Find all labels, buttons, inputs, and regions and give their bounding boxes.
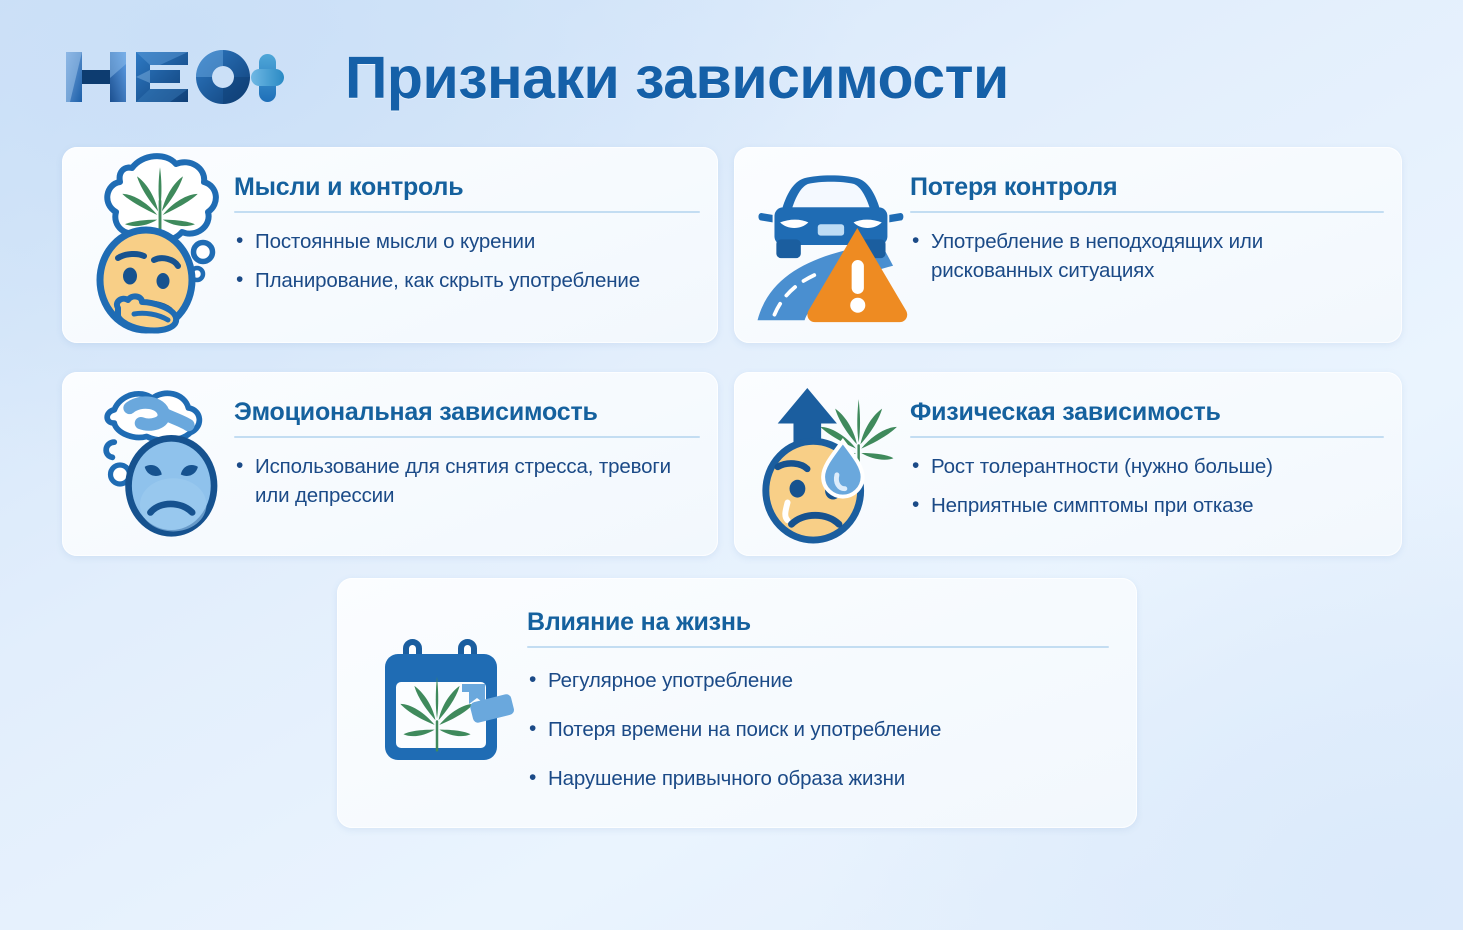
card-heading: Физическая зависимость [910,398,1384,427]
list-item: Нарушение привычного образа жизни [527,764,1109,793]
heading-divider [234,211,700,213]
heading-divider [910,436,1384,438]
card-points-list: Регулярное употребление Потеря времени н… [527,666,1109,793]
list-item: Неприятные симптомы при отказе [910,491,1384,520]
page-header: Признаки зависимости [0,0,1463,140]
card-impact-on-life: Влияние на жизнь Регулярное употребление… [337,578,1137,828]
card-heading: Эмоциональная зависимость [234,398,700,427]
card-heading: Влияние на жизнь [527,608,1109,637]
page-title: Признаки зависимости [345,44,1009,112]
list-item: Рост толерантности (нужно больше) [910,452,1384,481]
list-item: Планирование, как скрыть употребление [234,266,700,295]
card-thoughts-and-control: Мысли и контроль Постоянные мысли о куре… [62,147,718,343]
card-heading: Мысли и контроль [234,173,700,202]
sad-face-with-thought-cloud-icon [82,372,234,556]
thinking-face-with-cannabis-thought-bubble-icon [84,147,234,343]
heading-divider [527,646,1109,648]
card-body: Влияние на жизнь Регулярное употребление… [527,578,1137,813]
card-emotional-dependence: Эмоциональная зависимость Использование … [62,372,718,556]
heading-divider [234,436,700,438]
list-item: Постоянные мысли о курении [234,227,700,256]
card-body: Потеря контроля Употребление в неподходя… [910,147,1402,285]
card-loss-of-control: Потеря контроля Употребление в неподходя… [734,147,1402,343]
list-item: Потеря времени на поиск и употребление [527,715,1109,744]
neo-plus-logo [60,44,285,110]
card-points-list: Постоянные мысли о курении Планирование,… [234,227,700,295]
card-physical-dependence: Физическая зависимость Рост толерантност… [734,372,1402,556]
card-body: Мысли и контроль Постоянные мысли о куре… [234,147,718,305]
heading-divider [910,211,1384,213]
card-body: Эмоциональная зависимость Использование … [234,372,718,510]
anxious-sweating-face-with-up-arrow-and-cannabis-leaf-icon [752,372,910,556]
card-body: Физическая зависимость Рост толерантност… [910,372,1402,530]
list-item: Употребление в неподходящих или рискован… [910,227,1384,285]
car-on-road-with-warning-triangle-icon [750,147,910,343]
card-points-list: Использование для снятия стресса, тревог… [234,452,700,510]
list-item: Использование для снятия стресса, тревог… [234,452,700,510]
card-heading: Потеря контроля [910,173,1384,202]
card-points-list: Употребление в неподходящих или рискован… [910,227,1384,285]
calendar-with-cannabis-leaf-icon [367,578,527,828]
card-points-list: Рост толерантности (нужно больше) Неприя… [910,452,1384,520]
list-item: Регулярное употребление [527,666,1109,695]
